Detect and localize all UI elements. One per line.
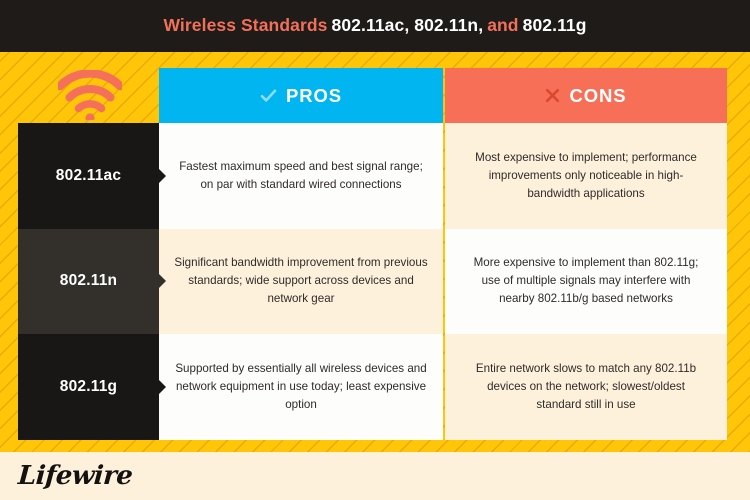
row-cons-cell: Most expensive to implement; performance… <box>445 123 727 229</box>
row-standard-cell: 802.11n <box>18 229 159 335</box>
row-cons-cell: More expensive to implement than 802.11g… <box>445 229 727 335</box>
row-pointer-icon <box>159 169 166 183</box>
row-pros-text: Significant bandwidth improvement from p… <box>173 254 429 308</box>
table-row: 802.11g Supported by essentially all wir… <box>18 334 727 440</box>
row-standard-label: 802.11ac <box>56 167 121 185</box>
header-cons-cell: CONS <box>445 68 727 123</box>
table-row: 802.11n Significant bandwidth improvemen… <box>18 229 727 335</box>
row-standard-cell: 802.11ac <box>18 123 159 229</box>
row-standard-cell: 802.11g <box>18 334 159 440</box>
x-icon <box>545 88 560 103</box>
page-title: Wireless Standards802.11ac, 802.11n,and8… <box>163 17 586 35</box>
row-pros-cell: Significant bandwidth improvement from p… <box>159 229 443 335</box>
title-part-accent-1: Wireless Standards <box>163 15 327 35</box>
title-part-standards-1: 802.11ac, 802.11n, <box>332 15 484 35</box>
check-icon <box>260 87 277 104</box>
row-pointer-icon <box>159 380 166 394</box>
comparison-table: PROS CONS 802.11ac <box>18 68 727 440</box>
row-pointer-icon <box>159 274 166 288</box>
lifewire-logo: Lifewire <box>17 461 133 491</box>
row-pros-text: Fastest maximum speed and best signal ra… <box>173 158 429 194</box>
title-part-standards-2: 802.11g <box>523 15 587 35</box>
row-standard-label: 802.11n <box>60 272 117 290</box>
row-cons-cell: Entire network slows to match any 802.11… <box>445 334 727 440</box>
header-corner-cell <box>18 68 159 123</box>
title-part-accent-2: and <box>487 15 518 35</box>
row-cons-text: More expensive to implement than 802.11g… <box>463 254 709 308</box>
row-standard-label: 802.11g <box>60 378 117 396</box>
header-pros-label: PROS <box>286 85 342 107</box>
row-cons-text: Entire network slows to match any 802.11… <box>463 360 709 414</box>
table-row: 802.11ac Fastest maximum speed and best … <box>18 123 727 229</box>
footer-bar: Lifewire <box>0 452 750 500</box>
row-cons-text: Most expensive to implement; performance… <box>463 149 709 203</box>
header-cons-label: CONS <box>569 85 626 107</box>
title-band: Wireless Standards802.11ac, 802.11n,and8… <box>0 0 750 52</box>
table-header-row: PROS CONS <box>18 68 727 123</box>
header-pros-cell: PROS <box>159 68 443 123</box>
row-pros-text: Supported by essentially all wireless de… <box>173 360 429 414</box>
row-pros-cell: Fastest maximum speed and best signal ra… <box>159 123 443 229</box>
infographic-root: Wireless Standards802.11ac, 802.11n,and8… <box>0 0 750 500</box>
row-pros-cell: Supported by essentially all wireless de… <box>159 334 443 440</box>
